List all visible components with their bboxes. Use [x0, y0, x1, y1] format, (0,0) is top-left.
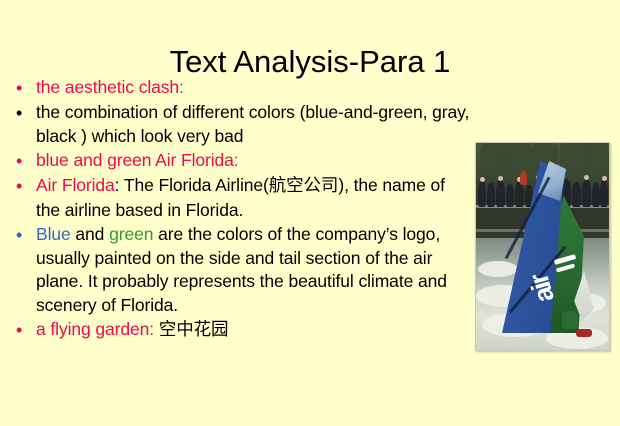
list-item: •the combination of different colors (bl… [13, 101, 473, 148]
text-run: a flying garden: [36, 319, 159, 339]
wreckage-red-piece [576, 329, 592, 337]
text-run: blue and green Air Florida: [36, 150, 239, 170]
bullet-marker-icon: • [13, 149, 36, 173]
text-run: Air Florida [36, 175, 115, 195]
text-run: Blue [36, 224, 71, 244]
list-item-text: blue and green Air Florida: [36, 149, 473, 173]
crowd-figure [592, 183, 600, 207]
list-item-text: Blue and green are the colors of the com… [36, 223, 473, 317]
crowd-figure-head [480, 177, 485, 182]
presentation-slide: Text Analysis-Para 1 •the aesthetic clas… [0, 0, 620, 426]
photo-content: air [476, 143, 609, 350]
bullet-marker-icon: • [13, 76, 36, 100]
crowd-figure [582, 179, 591, 207]
aircraft-tail-fin: air [502, 161, 576, 333]
text-run: the aesthetic clash: [36, 77, 184, 97]
crowd-figure [478, 181, 486, 207]
bullet-marker-icon: • [13, 223, 36, 247]
text-run: 空中花园 [159, 320, 229, 340]
aircraft-tail-photo: air [475, 142, 610, 351]
text-run: : The Florida Airline( [115, 175, 269, 195]
list-item: •Blue and green are the colors of the co… [13, 223, 473, 317]
text-run: the combination of different colors (blu… [36, 102, 469, 146]
text-run: green [109, 224, 153, 244]
list-item-text: Air Florida: The Florida Airline(航空公司), … [36, 174, 473, 222]
bullet-list: •the aesthetic clash:•the combination of… [13, 76, 473, 344]
list-item: •a flying garden: 空中花园 [13, 318, 473, 343]
list-item: •the aesthetic clash: [13, 76, 473, 100]
bullet-marker-icon: • [13, 318, 36, 342]
crowd-figure [487, 183, 495, 207]
list-item: •blue and green Air Florida: [13, 149, 473, 173]
text-run: 航空公司 [269, 176, 339, 196]
list-item-text: the combination of different colors (blu… [36, 101, 473, 148]
list-item: •Air Florida: The Florida Airline(航空公司),… [13, 174, 473, 222]
crowd-figure-head [584, 175, 589, 180]
bullet-marker-icon: • [13, 174, 36, 198]
crowd-figure-head [602, 176, 607, 181]
tree-icon [584, 143, 609, 177]
bullet-marker-icon: • [13, 101, 36, 125]
crowd-figure [600, 180, 608, 207]
list-item-text: the aesthetic clash: [36, 76, 473, 100]
text-run: and [71, 224, 109, 244]
wreckage-green-piece [562, 311, 578, 329]
list-item-text: a flying garden: 空中花园 [36, 318, 473, 343]
